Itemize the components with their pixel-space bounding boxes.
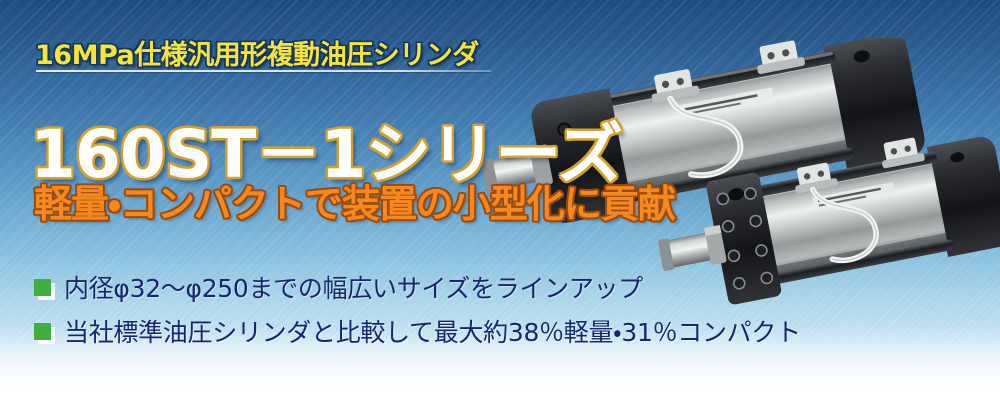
list-item: 内径φ32〜φ250までの幅広いサイズをラインアップ [34, 265, 801, 309]
list-item-label: 内径φ32〜φ250までの幅広いサイズをラインアップ [64, 269, 643, 305]
banner-text-layer: 16MPa仕様汎用形複動油圧シリンダ 160ST－1シリーズ 軽量・コンパクトで… [0, 0, 1000, 400]
list-item: 当社標準油圧シリンダと比較して最大約38％軽量・31％コンパクト [34, 309, 801, 353]
green-square-bullet-icon [34, 323, 51, 340]
list-item-label: 当社標準油圧シリンダと比較して最大約38％軽量・31％コンパクト [64, 313, 801, 349]
kicker-underline [36, 70, 491, 72]
feature-bullet-list: 内径φ32〜φ250までの幅広いサイズをラインアップ 当社標準油圧シリンダと比較… [34, 265, 801, 353]
page-title: 160ST－1シリーズ [30, 122, 622, 188]
product-banner: 16MPa仕様汎用形複動油圧シリンダ 160ST－1シリーズ 軽量・コンパクトで… [0, 0, 1000, 400]
green-square-bullet-icon [34, 279, 51, 296]
banner-kicker: 16MPa仕様汎用形複動油圧シリンダ [35, 33, 479, 72]
banner-tagline: 軽量・コンパクトで装置の小型化に貢献 [34, 185, 675, 223]
